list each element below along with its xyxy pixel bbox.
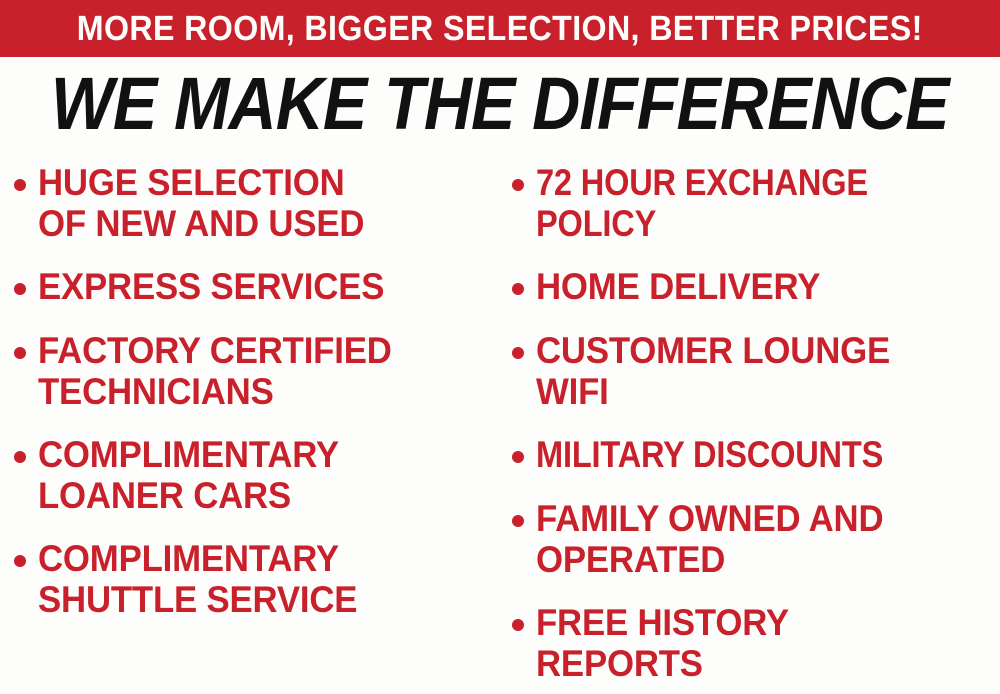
list-item-label: CUSTOMER LOUNGE WIFI — [536, 330, 890, 412]
bullet-dot-icon — [14, 555, 26, 567]
benefits-column-left: HUGE SELECTION OF NEW AND USED EXPRESS S… — [14, 150, 504, 694]
list-item-line2: WIFI — [536, 371, 890, 412]
list-item: HUGE SELECTION OF NEW AND USED — [14, 162, 385, 244]
list-item-line1: FREE HISTORY — [536, 602, 789, 643]
bullet-dot-icon — [512, 347, 524, 359]
promo-banner-text: MORE ROOM, BIGGER SELECTION, BETTER PRIC… — [77, 11, 923, 47]
list-item: FAMILY OWNED AND OPERATED — [512, 498, 906, 580]
headline-container: WE MAKE THE DIFFERENCE — [0, 70, 1000, 138]
list-item-line1: MILITARY DISCOUNTS — [536, 434, 883, 475]
list-item-line1: COMPLIMENTARY — [38, 434, 339, 475]
list-item-line1: EXPRESS SERVICES — [38, 266, 384, 307]
list-item-line1: COMPLIMENTARY — [38, 538, 339, 579]
advertisement-banner: MORE ROOM, BIGGER SELECTION, BETTER PRIC… — [0, 0, 1000, 694]
list-item-label: MILITARY DISCOUNTS — [536, 434, 883, 475]
list-item-label: FAMILY OWNED AND OPERATED — [536, 498, 883, 580]
list-item-label: COMPLIMENTARY LOANER CARS — [38, 434, 339, 516]
list-item: CUSTOMER LOUNGE WIFI — [512, 330, 913, 412]
list-item: EXPRESS SERVICES — [14, 266, 406, 307]
list-item-line2: SHUTTLE SERVICE — [38, 579, 357, 620]
list-item-line2: OPERATED — [536, 539, 883, 580]
list-item-line2: OF NEW AND USED — [38, 203, 364, 244]
list-item: HOME DELIVERY — [512, 266, 838, 307]
list-item: 72 HOUR EXCHANGE POLICY — [512, 162, 913, 244]
list-item-line2: REPORTS — [536, 643, 789, 684]
top-promo-banner: MORE ROOM, BIGGER SELECTION, BETTER PRIC… — [0, 0, 1000, 57]
page-title: WE MAKE THE DIFFERENCE — [51, 67, 949, 141]
bullet-dot-icon — [512, 515, 524, 527]
list-item-line1: CUSTOMER LOUNGE — [536, 330, 890, 371]
list-item-line1: HUGE SELECTION — [38, 162, 345, 203]
list-item-label: FREE HISTORY REPORTS — [536, 602, 789, 684]
bullet-dot-icon — [14, 347, 26, 359]
list-item-label: FACTORY CERTIFIED TECHNICIANS — [38, 330, 392, 412]
list-item-label: EXPRESS SERVICES — [38, 266, 384, 307]
bullet-dot-icon — [512, 283, 524, 295]
bullet-dot-icon — [14, 179, 26, 191]
bullet-dot-icon — [512, 179, 524, 191]
benefits-columns: HUGE SELECTION OF NEW AND USED EXPRESS S… — [0, 150, 1000, 694]
bullet-dot-icon — [512, 619, 524, 631]
list-item-line2: LOANER CARS — [38, 475, 339, 516]
list-item: COMPLIMENTARY SHUTTLE SERVICE — [14, 538, 378, 620]
bullet-dot-icon — [14, 451, 26, 463]
benefits-column-right: 72 HOUR EXCHANGE POLICY HOME DELIVERY — [512, 150, 1000, 694]
bullet-dot-icon — [512, 451, 524, 463]
list-item-label: HOME DELIVERY — [536, 266, 820, 307]
list-item: COMPLIMENTARY LOANER CARS — [14, 434, 358, 516]
list-item-line1: 72 HOUR EXCHANGE — [536, 162, 868, 203]
list-item-line1: FACTORY CERTIFIED — [38, 330, 392, 371]
list-item-line1: FAMILY OWNED AND — [536, 498, 883, 539]
list-item-label: COMPLIMENTARY SHUTTLE SERVICE — [38, 538, 357, 620]
list-item-line2: POLICY — [536, 203, 868, 244]
list-item-label: HUGE SELECTION OF NEW AND USED — [38, 162, 364, 244]
list-item: MILITARY DISCOUNTS — [512, 434, 931, 475]
list-item-label: 72 HOUR EXCHANGE POLICY — [536, 162, 868, 244]
list-item-line2: TECHNICIANS — [38, 371, 392, 412]
list-item: FACTORY CERTIFIED TECHNICIANS — [14, 330, 414, 412]
list-item: FREE HISTORY REPORTS — [512, 602, 805, 684]
list-item-line1: HOME DELIVERY — [536, 266, 820, 307]
bullet-dot-icon — [14, 283, 26, 295]
